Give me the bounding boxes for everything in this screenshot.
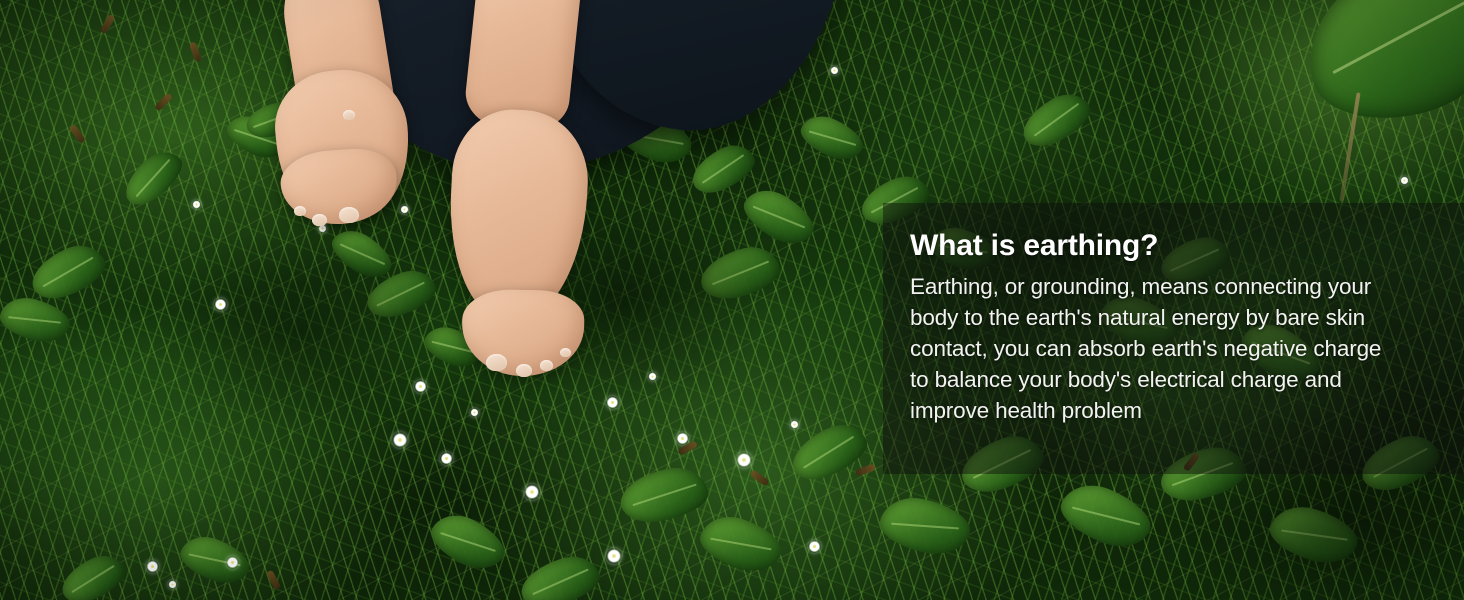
earthing-hero-banner: What is earthing? Earthing, or grounding… <box>0 0 1464 600</box>
body-paragraph: Earthing, or grounding, means connecting… <box>910 271 1400 426</box>
text-overlay-panel: What is earthing? Earthing, or grounding… <box>883 203 1464 474</box>
page-title: What is earthing? <box>910 229 1400 262</box>
